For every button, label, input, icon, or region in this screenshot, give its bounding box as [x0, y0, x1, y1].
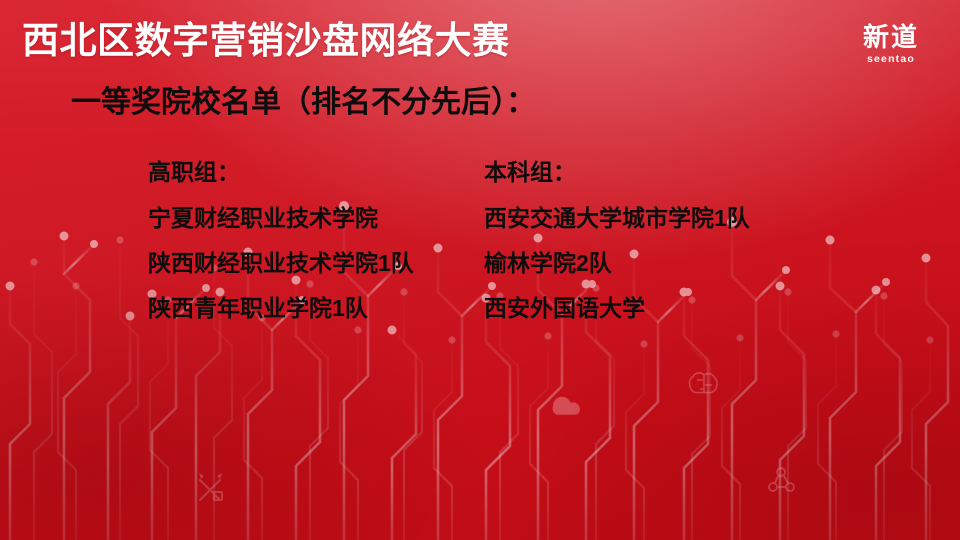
presentation-slide: 西北区数字营销沙盘网络大赛 一等奖院校名单（排名不分先后）： 新道 seenta…	[0, 0, 960, 540]
school-item: 榆林学院2队	[484, 252, 750, 275]
award-list: 高职组： 宁夏财经职业技术学院 陕西财经职业技术学院1队 陕西青年职业学院1队 …	[0, 161, 960, 361]
cloud-icon	[553, 397, 580, 415]
brain-icon	[689, 373, 717, 393]
tools-icon	[199, 473, 222, 500]
brand-logo-name-en: seentao	[848, 54, 934, 65]
award-group-undergraduate: 本科组： 西安交通大学城市学院1队 榆林学院2队 西安外国语大学	[484, 161, 750, 320]
school-item: 陕西财经职业技术学院1队	[148, 252, 414, 275]
school-item: 宁夏财经职业技术学院	[148, 207, 414, 230]
page-title: 西北区数字营销沙盘网络大赛	[22, 20, 510, 63]
school-item: 西安外国语大学	[484, 297, 750, 320]
group-heading: 高职组：	[148, 161, 414, 184]
group-heading: 本科组：	[484, 161, 750, 184]
brand-logo-name-cn: 新道	[848, 24, 934, 50]
school-item: 西安交通大学城市学院1队	[484, 207, 750, 230]
page-subtitle: 一等奖院校名单（排名不分先后）：	[71, 85, 536, 121]
share-nodes-icon	[769, 468, 794, 491]
school-item: 陕西青年职业学院1队	[148, 297, 414, 320]
award-group-vocational: 高职组： 宁夏财经职业技术学院 陕西财经职业技术学院1队 陕西青年职业学院1队	[148, 161, 414, 320]
brand-logo: 新道 seentao	[848, 24, 934, 65]
